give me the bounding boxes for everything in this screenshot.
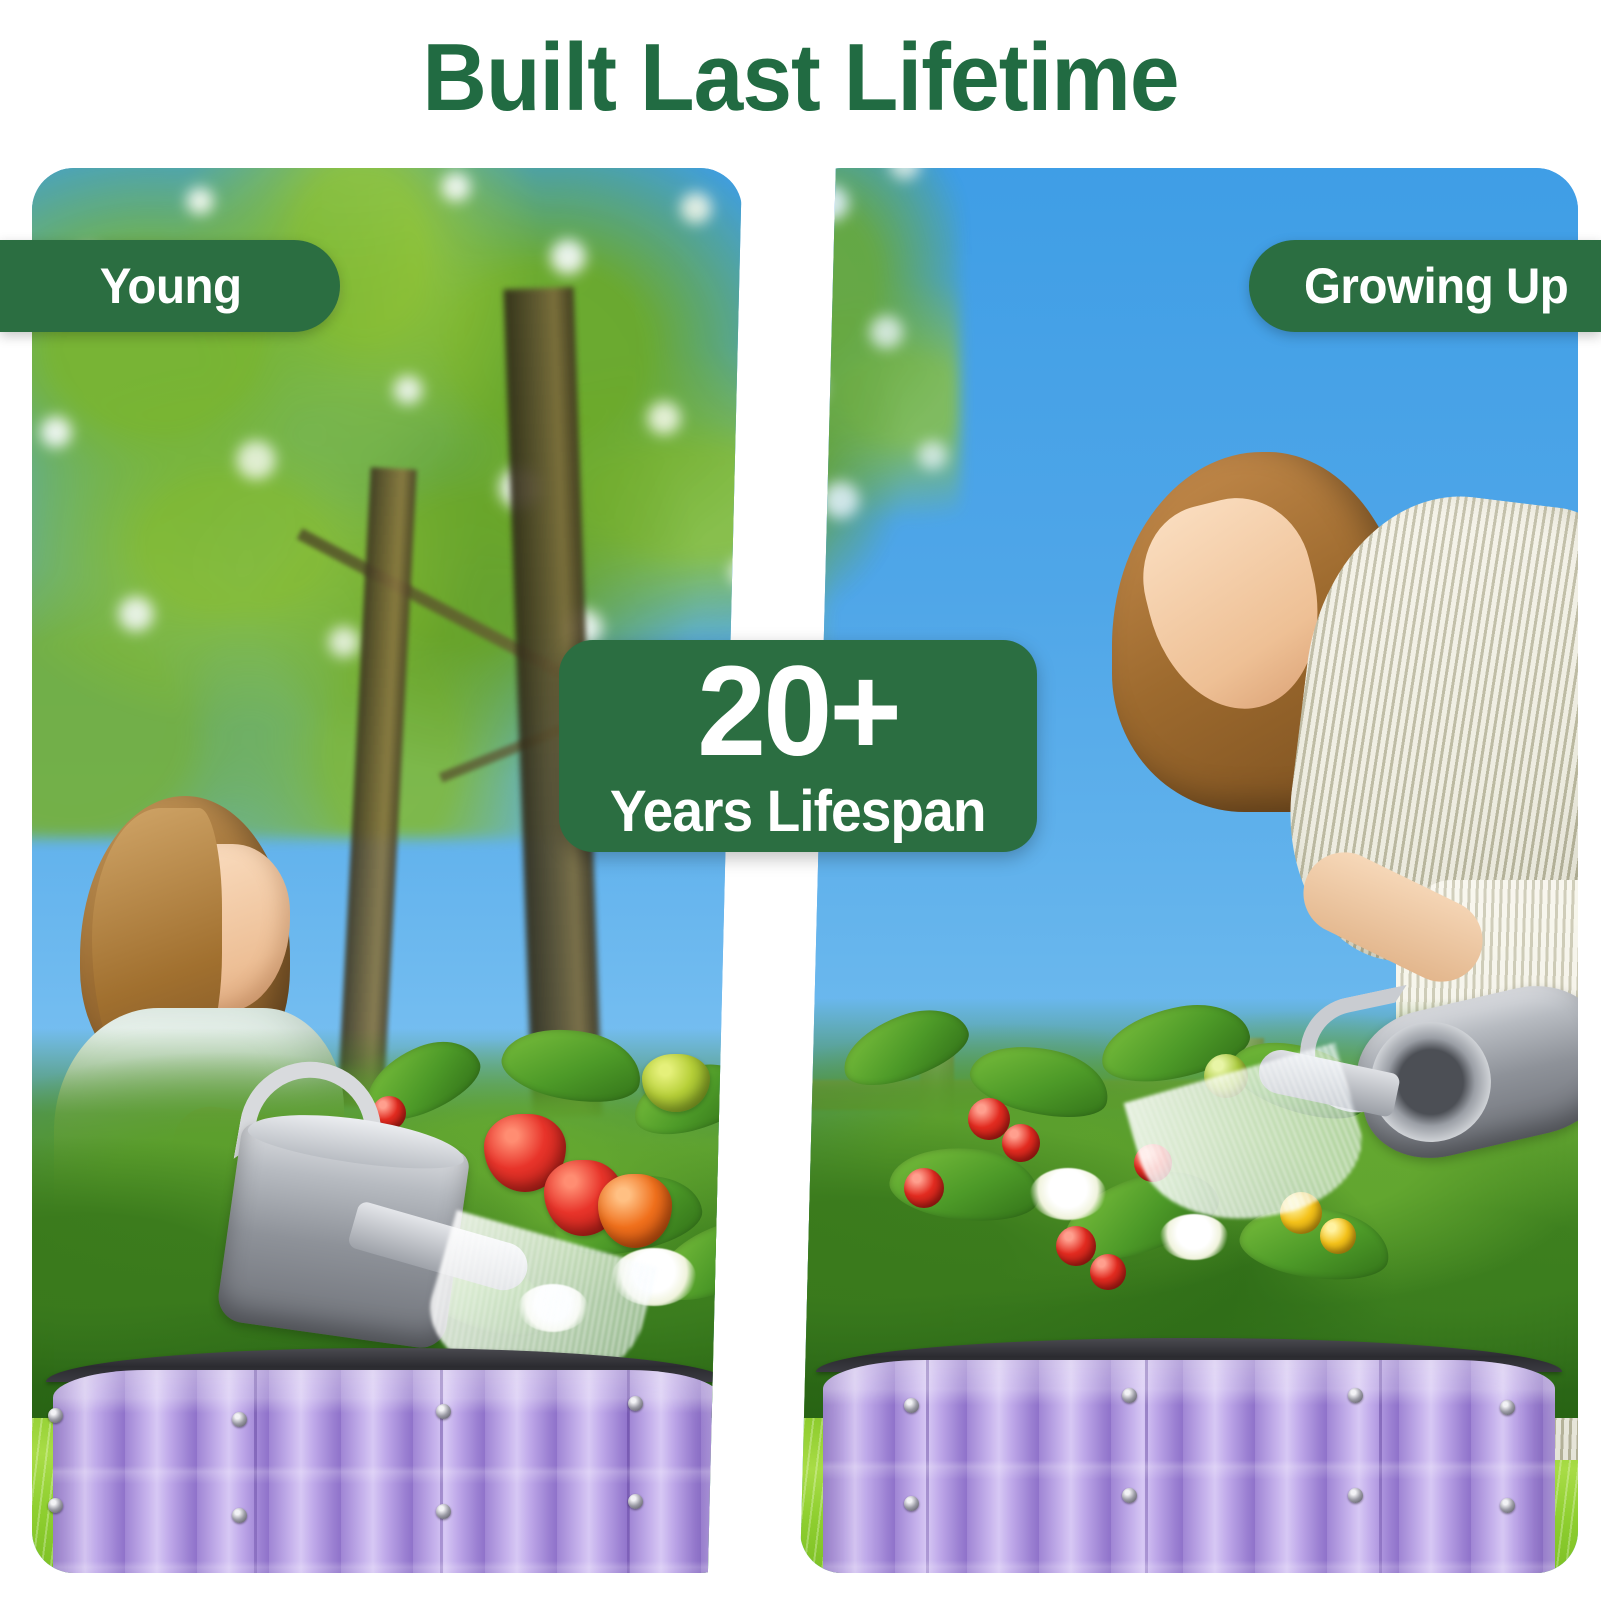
- raised-garden-bed: [800, 1338, 1578, 1573]
- raised-garden-bed: [32, 1348, 742, 1573]
- planter-body: [53, 1370, 720, 1573]
- rivet: [436, 1504, 451, 1519]
- product-feature-image: Built Last Lifetime: [0, 0, 1601, 1601]
- tag-growing-up: Growing Up: [1249, 240, 1601, 332]
- rivet: [1122, 1488, 1137, 1503]
- rivet: [904, 1496, 919, 1511]
- bell-pepper: [734, 1148, 742, 1222]
- panel-group: [0, 168, 1601, 1573]
- lifespan-badge: 20+ Years Lifespan: [559, 640, 1037, 852]
- panel-seam: [254, 1370, 257, 1573]
- tomato: [1056, 1226, 1096, 1266]
- lifespan-subtitle: Years Lifespan: [610, 780, 986, 844]
- rivet: [628, 1396, 643, 1411]
- flower-cluster: [1030, 1168, 1106, 1220]
- tag-young-label: Young: [100, 257, 242, 315]
- rivet: [1500, 1498, 1515, 1513]
- rivet: [232, 1508, 247, 1523]
- page-title: Built Last Lifetime: [56, 28, 1545, 129]
- tag-growing-up-label: Growing Up: [1304, 257, 1568, 315]
- rivet: [1122, 1388, 1137, 1403]
- flower-cluster: [1160, 1214, 1228, 1260]
- planter-body: [823, 1360, 1554, 1573]
- rivet: [436, 1404, 451, 1419]
- rivet: [1500, 1400, 1515, 1415]
- panel-growing-up: [800, 168, 1578, 1573]
- tomato: [1002, 1124, 1040, 1162]
- rivet: [628, 1494, 643, 1509]
- panel-seam: [1379, 1360, 1382, 1573]
- panel-seam: [1145, 1360, 1148, 1573]
- panel-seam: [440, 1370, 443, 1573]
- tomato: [1090, 1254, 1126, 1290]
- rivet: [1348, 1388, 1363, 1403]
- panel-young: [32, 168, 742, 1573]
- panel-seam: [926, 1360, 929, 1573]
- rivet: [1348, 1488, 1363, 1503]
- rivet: [904, 1398, 919, 1413]
- rivet: [48, 1408, 63, 1423]
- rivet: [48, 1498, 63, 1513]
- tag-young: Young: [0, 240, 340, 332]
- tomato: [904, 1168, 944, 1208]
- foliage-edge: [800, 168, 960, 668]
- tomato: [1320, 1218, 1356, 1254]
- rivet: [232, 1412, 247, 1427]
- lifespan-number: 20+: [697, 648, 899, 776]
